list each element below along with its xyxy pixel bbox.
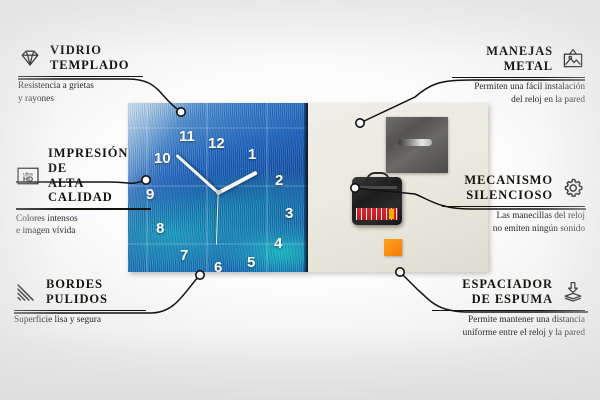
feature-espaciador-de-espuma: ESPACIADOR DE ESPUMA Permite mantener un… <box>432 277 585 339</box>
feature-header: MECANISMO SILENCIOSO <box>442 173 585 203</box>
feature-manejas-metal: MANEJAS METAL Permiten una fácil instala… <box>452 44 585 106</box>
clock-numeral-10: 10 <box>154 151 171 166</box>
feature-title-line-1: MANEJAS <box>486 44 553 59</box>
clock-center-pivot <box>216 190 221 195</box>
metal-hanger-plate <box>386 117 448 173</box>
feature-title: VIDRIO TEMPLADO <box>50 43 129 73</box>
mechanism-label <box>356 208 398 220</box>
mechanism-hanger-loop <box>366 172 390 184</box>
feature-divider <box>452 77 585 79</box>
feature-header: ultra HD IMPRESIÓN DE ALTA CALIDAD <box>16 146 151 205</box>
foam-spacer-pad <box>384 239 402 256</box>
feature-divider <box>432 310 585 312</box>
feature-description: Permiten una fácil instalación del reloj… <box>452 81 585 106</box>
infographic-canvas: 12 1 2 3 4 5 6 7 8 9 10 11 <box>0 0 600 400</box>
feature-title-line-2: PULIDOS <box>46 292 108 307</box>
feature-description: Permite mantener una distancia uniforme … <box>432 314 585 339</box>
feature-title-line-1: BORDES <box>46 277 108 292</box>
feature-title-line-2: ALTA CALIDAD <box>48 176 151 206</box>
feature-description: Superficie lisa y segura <box>14 314 146 326</box>
clock-numeral-12: 12 <box>208 136 225 151</box>
feature-title-line-2: METAL <box>504 59 553 74</box>
ultra-hd-icon: ultra HD <box>16 164 40 188</box>
feature-header: VIDRIO TEMPLADO <box>18 43 143 73</box>
feature-impresion-alta-calidad: ultra HD IMPRESIÓN DE ALTA CALIDAD Color… <box>16 146 151 238</box>
clock-numeral-2: 2 <box>275 173 283 188</box>
svg-text:HD: HD <box>23 176 33 183</box>
feature-title-line-1: ESPACIADOR <box>462 277 553 292</box>
connector-dot-bordes <box>196 271 204 279</box>
arrow-down-pad-icon <box>561 280 585 304</box>
clock-numeral-6: 6 <box>214 260 222 272</box>
feature-divider <box>14 310 146 312</box>
feature-header: ESPACIADOR DE ESPUMA <box>432 277 585 307</box>
feature-divider <box>16 208 151 210</box>
feature-title: BORDES PULIDOS <box>46 277 108 307</box>
feature-description: Colores intensos e imagen vívida <box>16 213 151 238</box>
feature-bordes-pulidos: BORDES PULIDOS Superficie lisa y segura <box>14 277 146 327</box>
feature-title: MANEJAS METAL <box>486 44 553 74</box>
beveled-edge-icon <box>14 280 38 304</box>
hanger-slot <box>398 139 432 146</box>
feature-divider <box>18 76 143 78</box>
diamond-icon <box>18 46 42 70</box>
feature-title: IMPRESIÓN DE ALTA CALIDAD <box>48 146 151 205</box>
clock-numeral-7: 7 <box>180 248 188 263</box>
feature-header: MANEJAS METAL <box>452 44 585 74</box>
clock-numeral-8: 8 <box>156 221 164 236</box>
clock-numeral-5: 5 <box>247 255 255 270</box>
clock-numeral-1: 1 <box>248 147 256 162</box>
feature-title: ESPACIADOR DE ESPUMA <box>462 277 553 307</box>
mechanism-label-accent <box>389 209 394 219</box>
feature-title-line-1: VIDRIO <box>50 43 129 58</box>
clock-numeral-4: 4 <box>274 236 282 251</box>
feature-divider <box>442 206 585 208</box>
clock-numeral-11: 11 <box>179 129 195 144</box>
clock-face-photo: 12 1 2 3 4 5 6 7 8 9 10 11 <box>128 103 308 272</box>
feature-title-line-1: MECANISMO <box>464 173 553 188</box>
feature-mecanismo-silencioso: MECANISMO SILENCIOSO Las manecillas del … <box>442 173 585 235</box>
gear-icon <box>561 176 585 200</box>
quartz-mechanism <box>352 177 402 225</box>
framed-picture-hook-icon <box>561 47 585 71</box>
feature-title-line-2: TEMPLADO <box>50 58 129 73</box>
feature-description: Resistencia a grietas y rayones <box>18 80 143 105</box>
feature-title: MECANISMO SILENCIOSO <box>464 173 553 203</box>
feature-title-line-1: IMPRESIÓN DE <box>48 146 151 176</box>
feature-vidrio-templado: VIDRIO TEMPLADO Resistencia a grietas y … <box>18 43 143 105</box>
feature-title-line-2: SILENCIOSO <box>466 188 553 203</box>
clock-numeral-3: 3 <box>285 206 293 221</box>
feature-header: BORDES PULIDOS <box>14 277 146 307</box>
feature-description: Las manecillas del reloj no emiten ningú… <box>442 210 585 235</box>
mechanism-strip <box>357 186 397 189</box>
feature-title-line-2: DE ESPUMA <box>472 292 553 307</box>
